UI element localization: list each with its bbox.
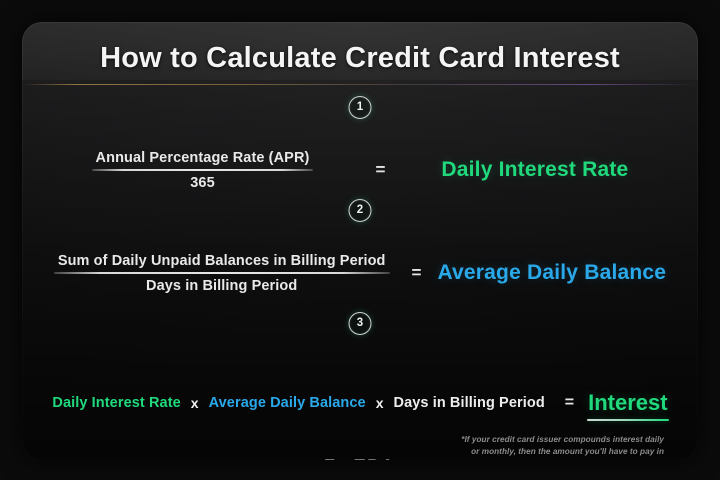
step-2-equation: Sum of Daily Unpaid Balances in Billing …	[22, 253, 698, 294]
step-2-equals-sign: =	[412, 263, 422, 283]
logo-letters-tra: TRA	[355, 456, 397, 460]
step-1-numerator: Annual Percentage Rate (APR)	[92, 150, 314, 169]
step-2-result: Average Daily Balance	[437, 261, 666, 285]
step-1-denominator: 365	[92, 171, 314, 191]
step-badge-1: 1	[349, 96, 372, 119]
extra-logo: E TRA	[22, 456, 698, 460]
step-2-denominator: Days in Billing Period	[54, 274, 390, 294]
step-1-equals-sign: =	[375, 160, 385, 180]
page-title: How to Calculate Credit Card Interest	[22, 42, 698, 75]
step-3-equation: Daily Interest Rate x Average Daily Bala…	[22, 390, 698, 416]
step-3-operator-1: x	[190, 395, 200, 411]
step-3-term-2: Average Daily Balance	[209, 395, 366, 411]
step-3-operator-2: x	[375, 395, 385, 411]
step-2-numerator: Sum of Daily Unpaid Balances in Billing …	[54, 253, 390, 272]
title-divider	[22, 84, 698, 85]
logo-x-mark-icon	[339, 458, 354, 461]
interest-underline	[587, 419, 668, 421]
step-2-fraction: Sum of Daily Unpaid Balances in Billing …	[54, 253, 390, 294]
step-badge-2: 2	[349, 199, 372, 222]
step-badge-3: 3	[349, 312, 372, 335]
step-1-fraction: Annual Percentage Rate (APR) 365	[92, 150, 314, 191]
step-1-equation: Annual Percentage Rate (APR) 365 = Daily…	[22, 150, 698, 191]
logo-letter-e: E	[324, 456, 338, 460]
step-3-equals-sign: =	[565, 394, 574, 412]
step-3-result-label: Interest	[588, 390, 667, 415]
step-1-result: Daily Interest Rate	[441, 158, 628, 182]
infographic-card: How to Calculate Credit Card Interest 1 …	[22, 22, 698, 460]
step-3-term-3: Days in Billing Period	[394, 395, 545, 411]
screenshot-stage: How to Calculate Credit Card Interest 1 …	[0, 0, 720, 480]
step-3-result: Interest	[588, 390, 667, 416]
step-3-term-1: Daily Interest Rate	[52, 395, 180, 411]
